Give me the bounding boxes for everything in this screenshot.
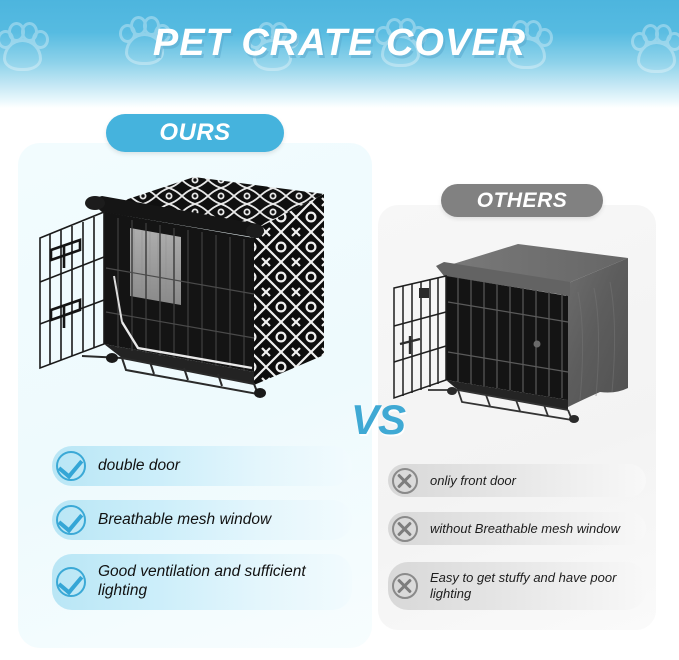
ours-feature-label: Good ventilation and sufficient lighting [98,563,352,600]
ours-badge: OURS [106,114,284,152]
others-feature-row: onliy front door [388,464,646,497]
vs-label: VS [348,390,408,450]
page-title: PET CRATE COVER [0,22,679,65]
ours-feature-label: double door [98,457,352,476]
check-circle-icon [56,505,86,535]
others-feature-row: without Breathable mesh window [388,512,646,545]
ours-product-image [26,172,346,407]
ours-feature-row: double door [52,446,352,486]
others-feature-label: onliy front door [430,473,646,489]
others-feature-row: Easy to get stuffy and have poor lightin… [388,562,646,610]
others-badge: OTHERS [441,184,603,217]
others-product-image [386,240,648,430]
x-circle-icon [392,468,418,494]
ours-feature-row: Breathable mesh window [52,500,352,540]
ours-feature-label: Breathable mesh window [98,511,352,530]
others-feature-label: without Breathable mesh window [430,521,646,537]
header-banner: PET CRATE COVER [0,0,679,108]
others-feature-label: Easy to get stuffy and have poor lightin… [430,570,646,601]
check-circle-icon [56,451,86,481]
x-circle-icon [392,516,418,542]
x-circle-icon [392,573,418,599]
pet-crate-cover-infographic: PET CRATE COVER [0,0,679,660]
check-circle-icon [56,567,86,597]
ours-feature-row: Good ventilation and sufficient lighting [52,554,352,610]
